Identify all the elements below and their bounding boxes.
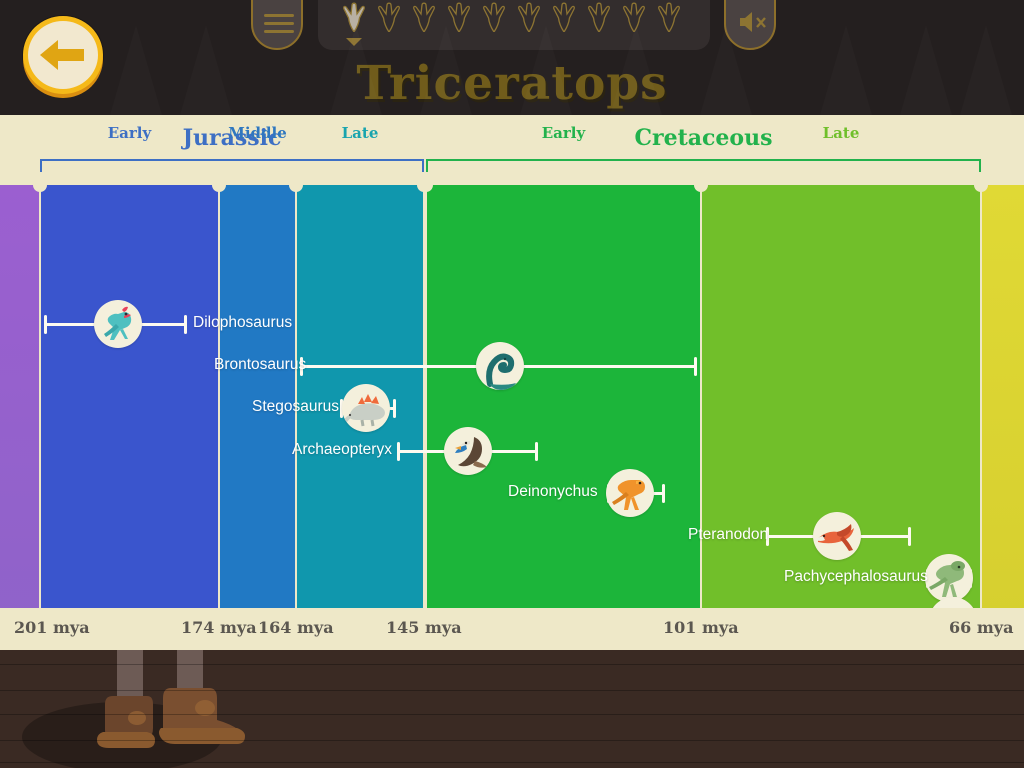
axis-label: 201 mya	[14, 618, 90, 637]
timeline-panel: JurassicCretaceous EarlyMiddleLateEarlyL…	[0, 115, 1024, 650]
menu-button[interactable]	[251, 0, 303, 50]
brontosaurus-avatar[interactable]	[476, 342, 524, 390]
hamburger-menu-icon-bar2	[264, 22, 294, 25]
species-name-label: Archaeopteryx	[292, 441, 392, 459]
pteranodon-avatar[interactable]	[813, 512, 861, 560]
species-row[interactable]: Dilophosaurus	[0, 307, 1024, 341]
species-name-label: Pteranodon	[688, 526, 768, 544]
axis-label: 164 mya	[258, 618, 334, 637]
epoch-label-jurassic-late[interactable]: Late	[296, 124, 424, 142]
axis-label: 145 mya	[386, 618, 462, 637]
grass-silhouette	[610, 25, 662, 115]
grass-silhouette	[820, 25, 872, 115]
species-name-label: Deinonychus	[508, 483, 598, 501]
hamburger-menu-icon-bar3	[264, 30, 294, 33]
species-range-cap	[393, 399, 396, 418]
species-name-label: Stegosaurus	[252, 398, 339, 416]
floor-scene	[0, 650, 1024, 768]
species-range-cap	[184, 315, 187, 334]
grass-silhouette	[330, 25, 382, 115]
species-range-cap	[397, 442, 400, 461]
species-range-cap	[535, 442, 538, 461]
species-row[interactable]: Archaeopteryx	[0, 434, 1024, 468]
stegosaurus-avatar[interactable]	[342, 384, 390, 432]
epoch-label-cretaceous-early[interactable]: Early	[426, 124, 701, 142]
species-range-cap	[662, 484, 665, 503]
grass-silhouette	[110, 25, 162, 115]
epoch-label-jurassic-middle[interactable]: Middle	[219, 124, 296, 142]
floor-plank	[0, 762, 1024, 763]
time-axis: 201 mya174 mya164 mya145 mya101 mya66 my…	[0, 608, 1024, 650]
floor-plank	[0, 690, 1024, 691]
species-row[interactable]: Brontosaurus	[0, 349, 1024, 383]
grass-silhouette	[960, 25, 1012, 115]
dinosaur-footprint-icon[interactable]	[480, 2, 508, 32]
epoch-bracket-cretaceous	[426, 159, 981, 172]
axis-label: 174 mya	[181, 618, 257, 637]
dilophosaurus-avatar[interactable]	[94, 300, 142, 348]
explorer-boots-icon	[55, 650, 315, 768]
grass-silhouette	[900, 25, 952, 115]
epoch-label-jurassic-early[interactable]: Early	[40, 124, 219, 142]
epoch-bracket-jurassic	[40, 159, 424, 172]
grass-silhouette	[180, 25, 232, 115]
species-row[interactable]: Deinonychus	[0, 476, 1024, 510]
grass-silhouette	[700, 25, 752, 115]
deinonychus-avatar[interactable]	[606, 469, 654, 517]
pachycephalosaurus-avatar[interactable]	[925, 554, 973, 602]
floor-plank	[0, 664, 1024, 665]
species-name-label: Brontosaurus	[214, 356, 306, 374]
grass-silhouette	[420, 25, 472, 115]
floor-plank	[0, 714, 1024, 715]
floor-plank	[0, 740, 1024, 741]
species-row[interactable]: Pteranodon	[0, 519, 1024, 553]
species-name-label: Pachycephalosaurus	[784, 568, 928, 586]
species-row[interactable]: Stegosaurus	[0, 391, 1024, 425]
epoch-label-cretaceous-late[interactable]: Late	[701, 124, 981, 142]
species-range-cap	[908, 527, 911, 546]
species-name-label: Dilophosaurus	[193, 314, 292, 332]
axis-label: 66 mya	[949, 618, 1013, 637]
species-range-cap	[44, 315, 47, 334]
top-bar: Triceratops	[0, 0, 1024, 115]
species-range-cap	[694, 357, 697, 376]
dinosaur-footprint-icon[interactable]	[585, 2, 613, 32]
axis-label: 101 mya	[663, 618, 739, 637]
species-row[interactable]: Pachycephalosaurus	[0, 561, 1024, 595]
hamburger-menu-icon	[264, 14, 294, 17]
grass-silhouette	[520, 25, 572, 115]
archaeopteryx-avatar[interactable]	[444, 427, 492, 475]
